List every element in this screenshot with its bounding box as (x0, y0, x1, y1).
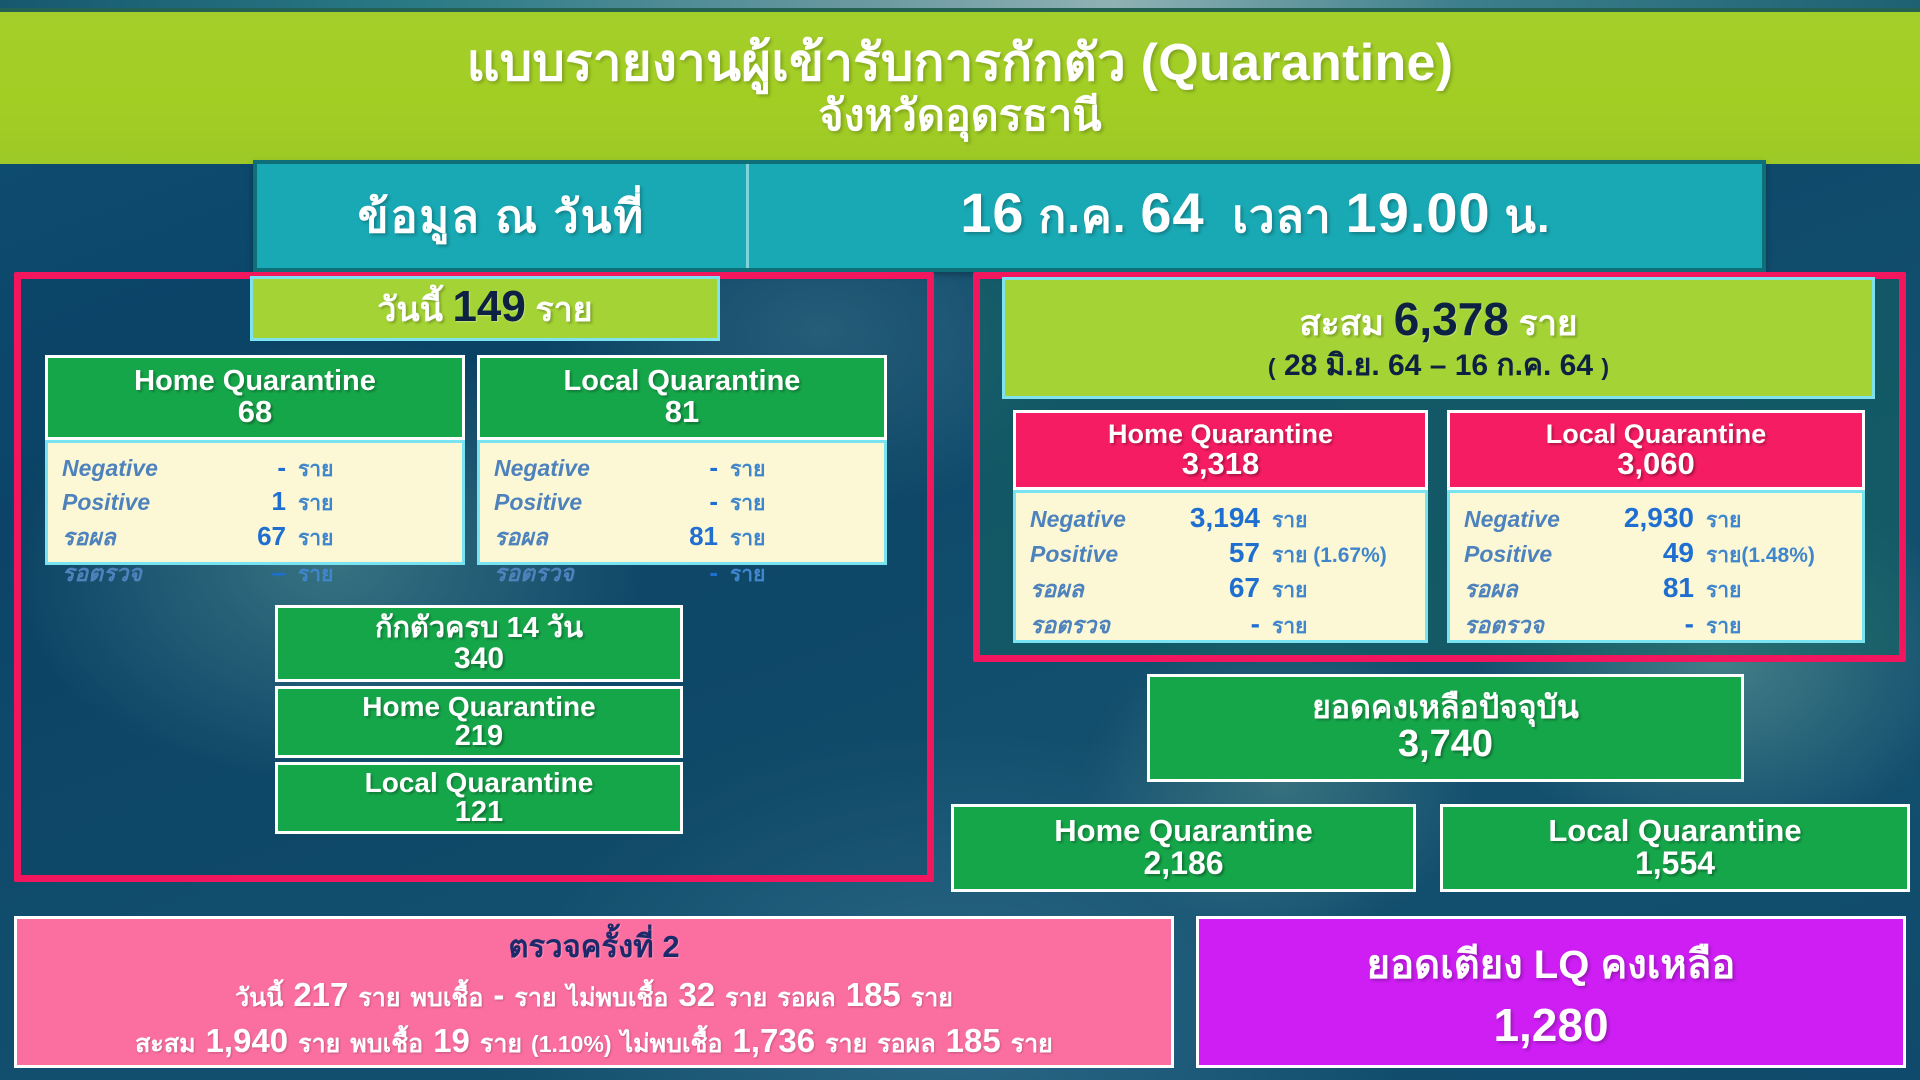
detail-label: รอตรวจ (494, 556, 644, 592)
detail-row: Positive 1 ราย (62, 486, 448, 520)
date-value: 16 ก.ค. 64 เวลา 19.00 น. (960, 180, 1550, 253)
lq-beds-remaining-box: ยอดเตียง LQ คงเหลือ 1,280 (1196, 916, 1906, 1068)
detail-label: รอตรวจ (1030, 608, 1148, 644)
detail-row: Negative - ราย (62, 452, 448, 486)
time-unit: น. (1504, 190, 1550, 242)
cumulative-home-title: Home Quarantine (1108, 420, 1333, 448)
detail-row: รอผล 81 ราย (1464, 572, 1848, 608)
completed-14-title: กักตัวครบ 14 วัน (375, 613, 583, 643)
detail-value: 2,930 (1582, 502, 1694, 534)
detail-row: Positive 57 ราย (1.67%) (1030, 537, 1411, 572)
cumulative-home-detail-card: Negative 3,194 ราย Positive 57 ราย (1.67… (1013, 490, 1428, 643)
st-today-label: วันนี้ (230, 978, 288, 1018)
date-banner: ข้อมูล ณ วันที่ 16 ก.ค. 64 เวลา 19.00 น. (253, 160, 1766, 272)
today-home-title: Home Quarantine (134, 366, 376, 396)
detail-label: Positive (62, 489, 212, 516)
detail-unit: ราย (1694, 610, 1741, 643)
detail-label: Positive (1030, 541, 1148, 568)
second-test-today-row: วันนี้ 217 ราย พบเชื้อ - ราย ไม่พบเชื้อ … (230, 976, 958, 1018)
cumulative-home-quarantine-box: Home Quarantine 3,318 (1013, 410, 1428, 490)
today-total-value: 149 (452, 282, 525, 331)
detail-value: – (212, 557, 286, 588)
st-cum-unit1: ราย (293, 1024, 345, 1064)
detail-row: รอตรวจ - ราย (1030, 608, 1411, 644)
completed-14-days-box: กักตัวครบ 14 วัน 340 (275, 605, 683, 682)
st-today-found: - (488, 976, 509, 1014)
today-home-quarantine-box: Home Quarantine 68 (45, 355, 465, 440)
completed-14-local-title: Local Quarantine (365, 768, 594, 797)
st-today-unit3: ราย (720, 978, 772, 1018)
detail-unit: ราย (1694, 574, 1741, 607)
range-close-paren: ) (1601, 354, 1609, 380)
st-cum-unit4: ราย (1006, 1024, 1058, 1064)
detail-value: 67 (212, 521, 286, 552)
lq-beds-count: 1,280 (1493, 998, 1608, 1052)
detail-value: - (644, 557, 718, 588)
date-month: ก.ค. (1038, 190, 1126, 242)
detail-label: รอตรวจ (62, 556, 212, 592)
current-remaining-title: ยอดคงเหลือปัจจุบัน (1312, 691, 1579, 725)
detail-unit: ราย (286, 558, 333, 591)
header-title-line: แบบรายงานผู้เข้ารับการกักตัว (Quarantine… (467, 36, 1454, 90)
detail-value: - (212, 452, 286, 483)
date-label: ข้อมูล ณ วันที่ (358, 180, 645, 252)
remaining-home-title: Home Quarantine (1054, 815, 1312, 848)
remaining-home-count: 2,186 (1143, 847, 1223, 881)
current-remaining-count: 3,740 (1398, 725, 1493, 765)
cumulative-total-line: สะสม 6,378 ราย (1299, 294, 1577, 345)
detail-value: - (1148, 608, 1260, 640)
detail-unit: ราย(1.48%) (1694, 539, 1815, 572)
detail-value: 81 (1582, 572, 1694, 604)
time-label: เวลา (1232, 190, 1332, 242)
today-local-quarantine-box: Local Quarantine 81 (477, 355, 887, 440)
st-cum-notfound: 1,736 (728, 1022, 821, 1060)
st-today-unit4: ราย (906, 978, 958, 1018)
st-today-total: 217 (288, 976, 353, 1014)
today-local-title: Local Quarantine (564, 366, 801, 396)
completed-14-home-title: Home Quarantine (362, 692, 595, 721)
detail-value: 57 (1148, 537, 1260, 569)
st-cum-found: 19 (428, 1022, 475, 1060)
detail-row: Positive 49 ราย(1.48%) (1464, 537, 1848, 572)
infographic-root: แบบรายงานผู้เข้ารับการกักตัว (Quarantine… (0, 0, 1920, 1080)
detail-row: Positive - ราย (494, 486, 870, 520)
detail-label: รอผล (1464, 572, 1582, 608)
detail-value: 67 (1148, 572, 1260, 604)
detail-unit: ราย (718, 522, 765, 555)
today-local-detail-card: Negative - ราย Positive - ราย รอผล 81 รา… (477, 440, 887, 565)
cumulative-local-title: Local Quarantine (1546, 420, 1767, 448)
st-cum-notfound-label: ไม่พบเชื้อ (616, 1024, 728, 1064)
completed-14-count: 340 (454, 643, 504, 675)
detail-unit: ราย (1260, 574, 1307, 607)
cumulative-local-detail-card: Negative 2,930 ราย Positive 49 ราย(1.48%… (1447, 490, 1865, 643)
st-today-pending-label: รอผล (772, 978, 840, 1018)
remaining-home-box: Home Quarantine 2,186 (951, 804, 1416, 892)
detail-row: รอตรวจ - ราย (494, 556, 870, 592)
cumulative-date-range-line: ( 28 มิ.ย. 64 – 16 ก.ค. 64 ) (1268, 349, 1609, 382)
detail-unit: ราย (286, 522, 333, 555)
detail-unit: ราย (718, 453, 765, 486)
st-today-found-label: พบเชื้อ (406, 978, 489, 1018)
detail-label: Positive (494, 489, 644, 516)
today-home-detail-card: Negative - ราย Positive 1 ราย รอผล 67 รา… (45, 440, 465, 565)
st-today-notfound: 32 (673, 976, 720, 1014)
st-cum-total: 1,940 (201, 1022, 294, 1060)
st-cum-percent: (1.10%) (527, 1031, 616, 1058)
date-day: 16 (960, 181, 1024, 244)
detail-label: รอผล (1030, 572, 1148, 608)
detail-value: 81 (644, 521, 718, 552)
cumulative-local-count: 3,060 (1617, 448, 1695, 481)
date-banner-label-cell: ข้อมูล ณ วันที่ (257, 164, 749, 268)
second-test-cumulative-row: สะสม 1,940 ราย พบเชื้อ 19 ราย (1.10%) ไม… (130, 1022, 1058, 1064)
header-title-thai: แบบรายงานผู้เข้ารับการกักตัว (467, 34, 1127, 91)
st-today-pending: 185 (841, 976, 906, 1014)
detail-unit: ราย (1260, 610, 1307, 643)
st-cum-unit3: ราย (820, 1024, 872, 1064)
remaining-local-count: 1,554 (1635, 847, 1715, 881)
detail-value: - (1582, 608, 1694, 640)
today-total-label: วันนี้ (377, 291, 443, 329)
detail-value: - (644, 452, 718, 483)
cumulative-total-unit: ราย (1519, 304, 1578, 343)
today-total-line: วันนี้ 149 ราย (377, 282, 592, 336)
detail-unit: ราย (1.67%) (1260, 539, 1387, 572)
lq-beds-title: ยอดเตียง LQ คงเหลือ (1367, 932, 1736, 996)
detail-label: Negative (1030, 506, 1148, 533)
range-open-paren: ( (1268, 354, 1276, 380)
top-accent-strip (0, 0, 1920, 8)
cumulative-total-label: สะสม (1299, 304, 1384, 343)
remaining-local-title: Local Quarantine (1548, 815, 1801, 848)
detail-row: Negative 3,194 ราย (1030, 502, 1411, 537)
cumulative-home-count: 3,318 (1182, 448, 1260, 481)
completed-14-home-box: Home Quarantine 219 (275, 686, 683, 758)
detail-unit: ราย (718, 558, 765, 591)
detail-value: 3,194 (1148, 502, 1260, 534)
second-test-title: ตรวจครั้งที่ 2 (508, 921, 679, 971)
detail-label: Negative (1464, 506, 1582, 533)
st-cum-unit2: ราย (475, 1024, 527, 1064)
cumulative-local-quarantine-box: Local Quarantine 3,060 (1447, 410, 1865, 490)
detail-unit: ราย (286, 487, 333, 520)
st-today-notfound-label: ไม่พบเชื้อ (562, 978, 674, 1018)
completed-14-home-count: 219 (455, 721, 503, 751)
detail-unit: ราย (718, 487, 765, 520)
today-local-count: 81 (665, 396, 699, 429)
detail-row: รอผล 81 ราย (494, 520, 870, 556)
st-today-unit2: ราย (509, 978, 561, 1018)
date-banner-value-cell: 16 ก.ค. 64 เวลา 19.00 น. (749, 164, 1762, 268)
st-cum-pending: 185 (941, 1022, 1006, 1060)
detail-label: รอผล (62, 520, 212, 556)
cumulative-date-range: 28 มิ.ย. 64 – 16 ก.ค. 64 (1284, 349, 1593, 382)
time-value: 19.00 (1346, 181, 1491, 244)
detail-row: รอผล 67 ราย (1030, 572, 1411, 608)
detail-unit: ราย (286, 453, 333, 486)
today-total-box: วันนี้ 149 ราย (250, 276, 720, 341)
detail-label: Negative (494, 455, 644, 482)
detail-label: รอตรวจ (1464, 608, 1582, 644)
detail-row: Negative - ราย (494, 452, 870, 486)
detail-unit: ราย (1260, 504, 1307, 537)
header-title-english: (Quarantine) (1141, 34, 1454, 92)
second-test-panel: ตรวจครั้งที่ 2 วันนี้ 217 ราย พบเชื้อ - … (14, 916, 1174, 1068)
completed-14-local-count: 121 (455, 797, 503, 827)
detail-row: รอผล 67 ราย (62, 520, 448, 556)
cumulative-total-value: 6,378 (1394, 293, 1509, 345)
detail-row: Negative 2,930 ราย (1464, 502, 1848, 537)
detail-value: 1 (212, 486, 286, 517)
today-home-count: 68 (238, 396, 272, 429)
st-cum-found-label: พบเชื้อ (345, 1024, 428, 1064)
completed-14-local-box: Local Quarantine 121 (275, 762, 683, 834)
current-remaining-box: ยอดคงเหลือปัจจุบัน 3,740 (1147, 674, 1744, 782)
detail-unit: ราย (1694, 504, 1741, 537)
detail-value: 49 (1582, 537, 1694, 569)
today-total-unit: ราย (535, 291, 592, 329)
detail-label: Negative (62, 455, 212, 482)
cumulative-total-box: สะสม 6,378 ราย ( 28 มิ.ย. 64 – 16 ก.ค. 6… (1002, 277, 1875, 399)
detail-value: - (644, 486, 718, 517)
detail-label: Positive (1464, 541, 1582, 568)
st-today-unit1: ราย (353, 978, 405, 1018)
date-year: 64 (1140, 181, 1204, 244)
header-subtitle: จังหวัดอุดรธานี (818, 93, 1101, 140)
remaining-local-box: Local Quarantine 1,554 (1440, 804, 1910, 892)
detail-row: รอตรวจ – ราย (62, 556, 448, 592)
detail-label: รอผล (494, 520, 644, 556)
detail-row: รอตรวจ - ราย (1464, 608, 1848, 644)
st-cum-pending-label: รอผล (872, 1024, 940, 1064)
page-header: แบบรายงานผู้เข้ารับการกักตัว (Quarantine… (0, 12, 1920, 164)
st-cum-label: สะสม (130, 1024, 200, 1064)
